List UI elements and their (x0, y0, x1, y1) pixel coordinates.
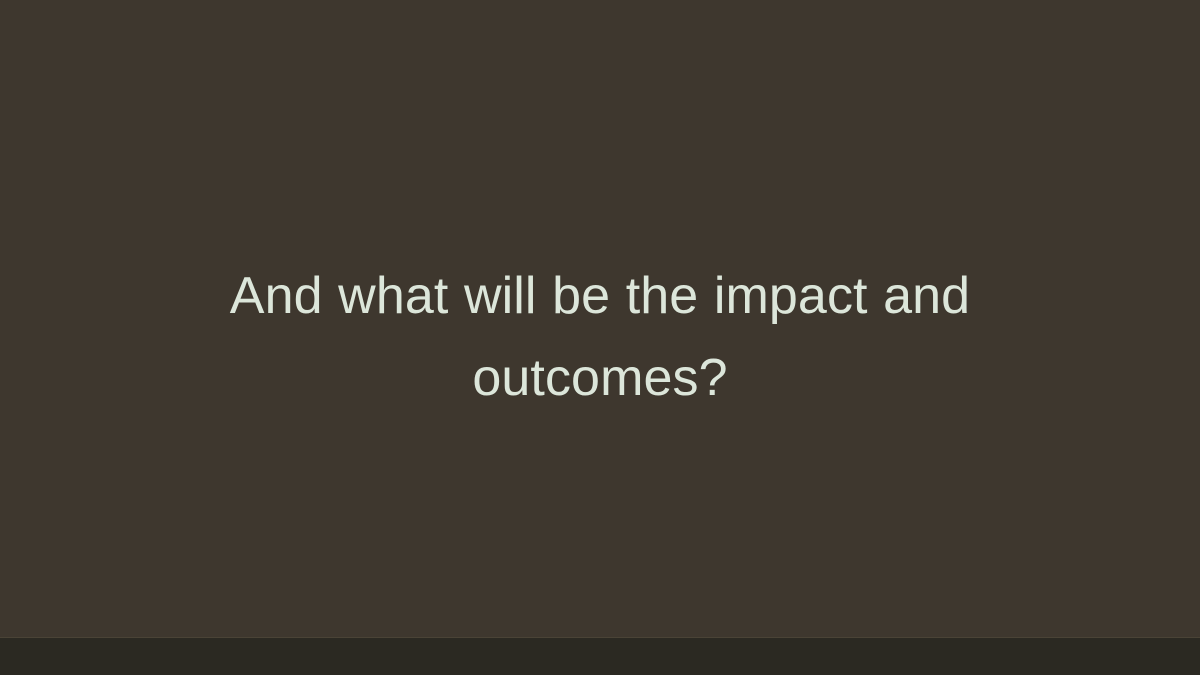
footer-band (0, 638, 1200, 675)
presentation-slide: And what will be the impact and outcomes… (0, 0, 1200, 675)
slide-headline: And what will be the impact and outcomes… (80, 255, 1120, 419)
headline-line-1: And what will be the impact and (80, 255, 1120, 337)
slide-content-area: And what will be the impact and outcomes… (0, 0, 1200, 638)
headline-line-2: outcomes? (80, 337, 1120, 419)
